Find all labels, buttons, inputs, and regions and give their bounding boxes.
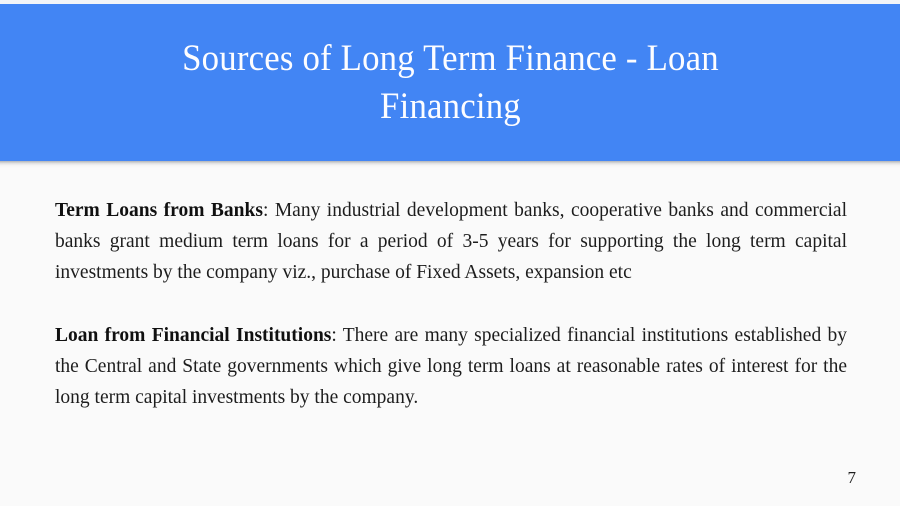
paragraph-lead-in: Term Loans from Banks	[55, 200, 263, 221]
presentation-slide: Sources of Long Term Finance - Loan Fina…	[0, 0, 900, 506]
paragraph-separator: :	[263, 200, 275, 221]
page-number: 7	[848, 468, 857, 488]
title-band-shadow	[0, 161, 900, 168]
paragraph-separator: :	[331, 325, 342, 346]
paragraph-loan-from-financial-institutions: Loan from Financial Institutions: There …	[55, 320, 847, 413]
page-title: Sources of Long Term Finance - Loan Fina…	[182, 35, 719, 131]
paragraph-lead-in: Loan from Financial Institutions	[55, 325, 331, 346]
paragraph-term-loans-from-banks: Term Loans from Banks: Many industrial d…	[55, 195, 847, 288]
slide-title-band: Sources of Long Term Finance - Loan Fina…	[0, 4, 900, 161]
slide-body: Term Loans from Banks: Many industrial d…	[0, 168, 900, 506]
